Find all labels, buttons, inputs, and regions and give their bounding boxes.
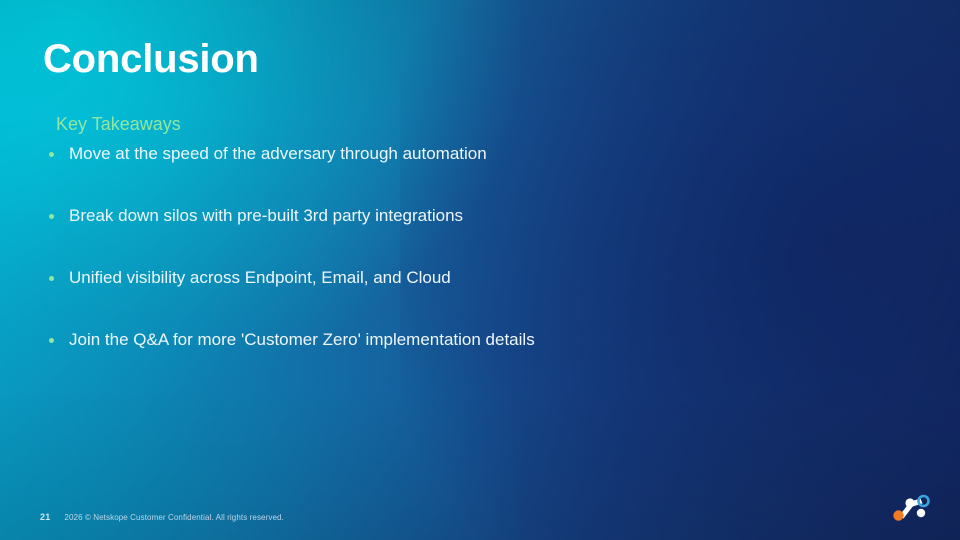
bullet-item: Move at the speed of the adversary throu… xyxy=(44,142,924,204)
bullet-text: Break down silos with pre-built 3rd part… xyxy=(69,204,463,228)
bullet-list: Move at the speed of the adversary throu… xyxy=(44,142,924,390)
bullet-dot-icon xyxy=(49,338,54,343)
netskope-logo xyxy=(886,490,938,524)
bullet-item: Break down silos with pre-built 3rd part… xyxy=(44,204,924,266)
bullet-text: Unified visibility across Endpoint, Emai… xyxy=(69,266,451,290)
bullet-text: Move at the speed of the adversary throu… xyxy=(69,142,487,166)
bullet-dot-icon xyxy=(49,276,54,281)
bullet-text: Join the Q&A for more 'Customer Zero' im… xyxy=(69,328,535,352)
presentation-slide: Conclusion Key Takeaways Move at the spe… xyxy=(0,0,960,540)
bullet-dot-icon xyxy=(49,214,54,219)
copyright-notice: 2026 © Netskope Customer Confidential. A… xyxy=(64,513,283,522)
slide-title: Conclusion xyxy=(43,36,259,82)
slide-subtitle: Key Takeaways xyxy=(56,112,181,136)
logo-glyph xyxy=(893,496,928,521)
slide-footer: 21 2026 © Netskope Customer Confidential… xyxy=(40,512,284,522)
page-number: 21 xyxy=(40,512,50,522)
bullet-item: Unified visibility across Endpoint, Emai… xyxy=(44,266,924,328)
bullet-item: Join the Q&A for more 'Customer Zero' im… xyxy=(44,328,924,390)
bullet-dot-icon xyxy=(49,152,54,157)
